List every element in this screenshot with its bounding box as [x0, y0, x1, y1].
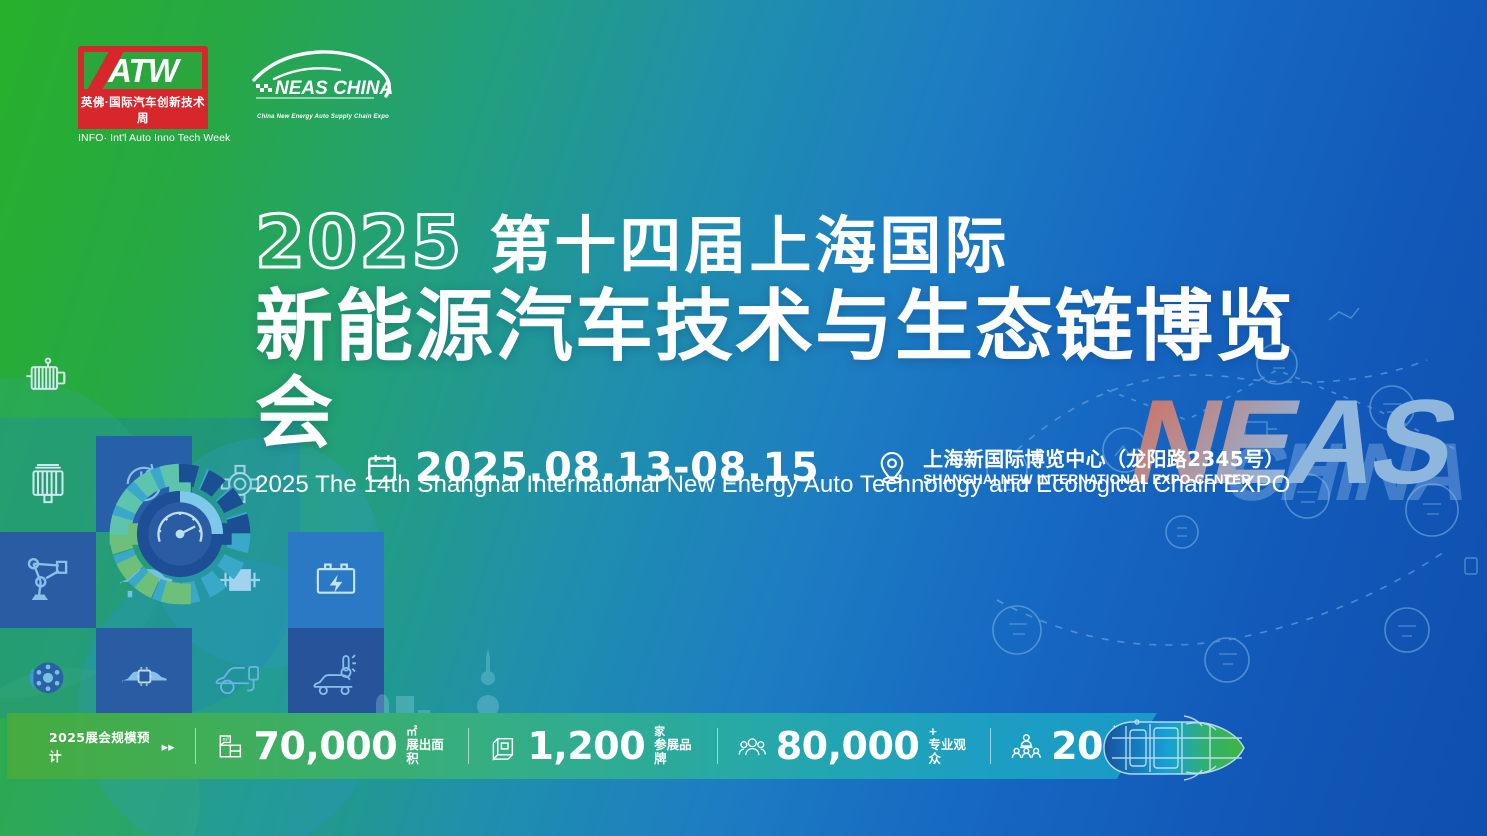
- exhibition-booth-icon: [489, 729, 518, 763]
- stat-visitors: 80,000 + 专业观众: [738, 726, 970, 766]
- conference-icon: [1011, 729, 1042, 763]
- neas-china-logo[interactable]: NEAS CHINA China New Energy Auto Supply …: [248, 46, 398, 120]
- stat-label-brands: 家 参展品牌: [654, 726, 697, 766]
- location-pin-icon: [877, 451, 907, 485]
- event-dates: 2025.08.13-08.15: [415, 448, 819, 488]
- event-venue-item: 上海新国际博览中心（龙阳路2345号） SHANGHAI NEW INTERNA…: [877, 448, 1284, 489]
- robot-arm-icon: [19, 551, 77, 609]
- headline-line-1: 2025 第十四届上海国际: [255, 206, 1315, 278]
- visitors-icon: [738, 729, 767, 763]
- event-date-item: 2025.08.13-08.15: [365, 448, 819, 488]
- stat-brands: 1,200 家 参展品牌: [489, 726, 697, 766]
- gear-gauge-graphic: [104, 458, 256, 610]
- stat-value-visitors: 80,000: [776, 727, 920, 765]
- stat-label-visitors: + 专业观众: [928, 726, 970, 766]
- svg-text:NEAS CHINA: NEAS CHINA: [275, 78, 393, 99]
- neas-tagline: China New Energy Auto Supply Chain Expo: [248, 114, 398, 120]
- stats-divider: [195, 728, 196, 764]
- headline-line1-cn: 第十四届上海国际: [489, 215, 1009, 277]
- radiator-icon: [19, 455, 77, 513]
- car-topview-graphic: [1090, 708, 1260, 788]
- expo-banner: CHINA NEAS ATW 英佛·国际汽车创新技术周 INFO· Int'l …: [0, 0, 1487, 836]
- stats-band-lead: 2025展会规模预计 ▸▸: [49, 727, 175, 765]
- venue-name-cn: 上海新国际博览中心（龙阳路2345号）: [923, 448, 1284, 471]
- neas-car-outline-icon: NEAS CHINA: [248, 46, 398, 108]
- stat-exhibit-area: m² 70,000 ㎡ 展出面积: [216, 726, 448, 766]
- tile-electric-motor: [0, 330, 96, 426]
- battery-bolt-icon: [307, 551, 365, 609]
- atw-logo[interactable]: ATW 英佛·国际汽车创新技术周 INFO· Int'l Auto Inno T…: [78, 46, 208, 144]
- atw-english-name: INFO· Int'l Auto Inno Tech Week: [78, 129, 208, 144]
- tile-robot-arm: [0, 532, 96, 628]
- stats-divider-3: [717, 728, 718, 764]
- stats-divider-2: [468, 728, 469, 764]
- tile-ev-charging: [192, 628, 288, 724]
- tile-smart-car: [96, 628, 192, 724]
- stats-band-lead-label: 2025展会规模预计: [49, 727, 156, 765]
- stat-text-brands: 参展品牌: [654, 738, 697, 766]
- stat-text-visitors: 专业观众: [928, 738, 970, 766]
- tile-brake-disc: [0, 628, 96, 724]
- stat-value-brands: 1,200: [527, 727, 645, 765]
- tile-radiator: [0, 436, 96, 532]
- gear-gauge-icon: [104, 458, 256, 610]
- atw-chinese-name: 英佛·国际汽车创新技术周: [78, 92, 208, 129]
- tile-battery: [288, 532, 384, 628]
- headline-year: 2025: [255, 206, 463, 278]
- atw-letters: ATW: [81, 49, 205, 92]
- brake-disc-icon: [19, 647, 77, 705]
- stats-band: 2025展会规模预计 ▸▸ m² 70,000 ㎡ 展出面积 1,200 家: [7, 713, 1157, 779]
- floorplan-icon: m²: [216, 729, 245, 763]
- stat-value-area: 70,000: [254, 727, 398, 765]
- headline-line2-cn: 新能源汽车技术与生态链博览会: [255, 284, 1315, 459]
- venue-name-en: SHANGHAI NEW INTERNATIONAL EXPO CENTER: [923, 471, 1284, 489]
- atw-mark: ATW: [78, 46, 208, 92]
- stats-band-arrows-icon: ▸▸: [162, 739, 175, 754]
- stats-divider-4: [990, 728, 991, 764]
- car-topview-icon: [1090, 708, 1260, 788]
- stat-text-area: 展出面积: [406, 738, 448, 766]
- stat-label-area: ㎡ 展出面积: [406, 726, 448, 766]
- calendar-icon: [365, 451, 399, 485]
- logo-row: ATW 英佛·国际汽车创新技术周 INFO· Int'l Auto Inno T…: [78, 46, 398, 144]
- ev-charging-car-icon: [211, 647, 269, 705]
- smart-car-chip-icon: [115, 647, 173, 705]
- svg-text:m²: m²: [222, 737, 229, 743]
- event-meta-row: 2025.08.13-08.15 上海新国际博览中心（龙阳路2345号） SHA…: [365, 448, 1285, 489]
- event-venue-text: 上海新国际博览中心（龙阳路2345号） SHANGHAI NEW INTERNA…: [923, 448, 1284, 489]
- electric-motor-icon: [19, 349, 77, 407]
